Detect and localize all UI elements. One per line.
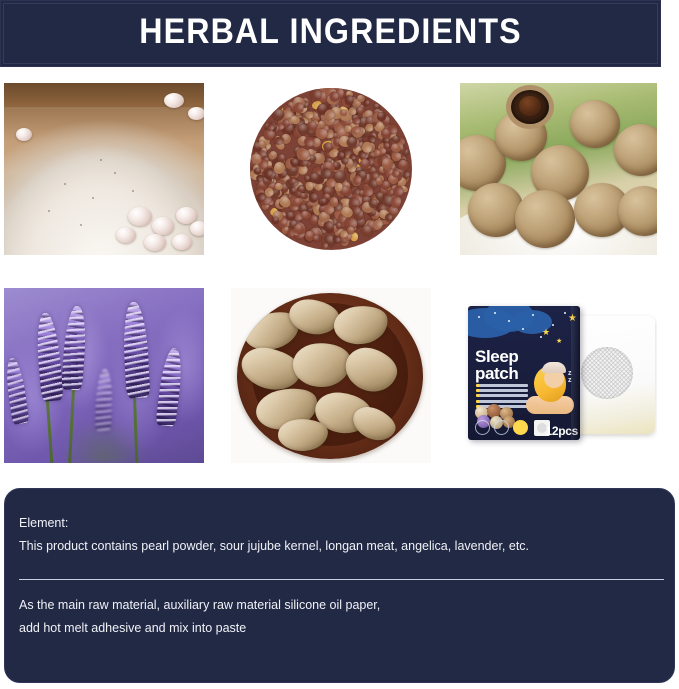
feature-bullet <box>476 389 528 392</box>
wooden-bowl <box>237 293 423 459</box>
feature-bullet <box>476 384 528 387</box>
element-label: Element: <box>19 516 68 530</box>
certification-icons <box>475 420 528 435</box>
kernel-pile <box>250 88 412 250</box>
feature-icon <box>494 420 509 435</box>
pearl <box>188 107 204 120</box>
longan-fruit <box>614 124 657 176</box>
pearl <box>164 93 184 108</box>
pearl <box>190 221 204 236</box>
pearl <box>128 207 152 226</box>
feature-icon <box>513 420 528 435</box>
jujube-seed <box>383 142 389 149</box>
longan-fruit <box>515 190 575 248</box>
image-angelica-root <box>231 288 431 463</box>
material-text-line2: add hot melt adhesive and mix into paste <box>19 621 246 635</box>
feature-bullet <box>476 400 528 403</box>
product-title: Sleep patch <box>475 348 518 382</box>
feature-icon <box>475 420 490 435</box>
feature-bullet <box>476 394 528 397</box>
image-sleep-patch-product: ★ ★ ★ Sleep patch z z <box>460 300 657 451</box>
product-package: ★ ★ ★ Sleep patch z z <box>468 306 580 440</box>
box-side-panel <box>571 306 580 440</box>
powder-mound <box>4 107 204 255</box>
panel-divider <box>19 579 664 580</box>
sleeping-moon-illustration: z z <box>524 362 576 418</box>
jujube-seed <box>334 182 343 192</box>
material-text-line1: As the main raw material, auxiliary raw … <box>19 598 380 612</box>
image-lavender <box>4 288 204 463</box>
jujube-seed <box>305 111 313 119</box>
longan-cracked-open <box>511 90 549 124</box>
jujube-seed <box>305 182 313 191</box>
header-banner: HERBAL INGREDIENTS <box>0 0 661 67</box>
longan-fruit <box>570 100 620 148</box>
image-pearl-powder <box>4 83 204 255</box>
star-icon: ★ <box>556 338 562 345</box>
page-title: HERBAL INGREDIENTS <box>27 12 633 52</box>
pearl <box>16 128 32 141</box>
star-icon: ★ <box>542 328 550 337</box>
angelica-slice <box>277 417 329 452</box>
ingredient-info-panel: Element: This product contains pearl pow… <box>4 488 675 683</box>
image-sour-jujube-kernel <box>231 83 431 255</box>
ingredient-list-text: This product contains pearl powder, sour… <box>19 539 529 553</box>
image-longan-meat <box>460 83 657 255</box>
patch-mesh-pad <box>581 347 633 399</box>
jujube-seed <box>313 235 322 243</box>
nightcap <box>542 362 566 373</box>
jujube-seed <box>381 157 393 169</box>
jujube-seed <box>362 142 372 153</box>
